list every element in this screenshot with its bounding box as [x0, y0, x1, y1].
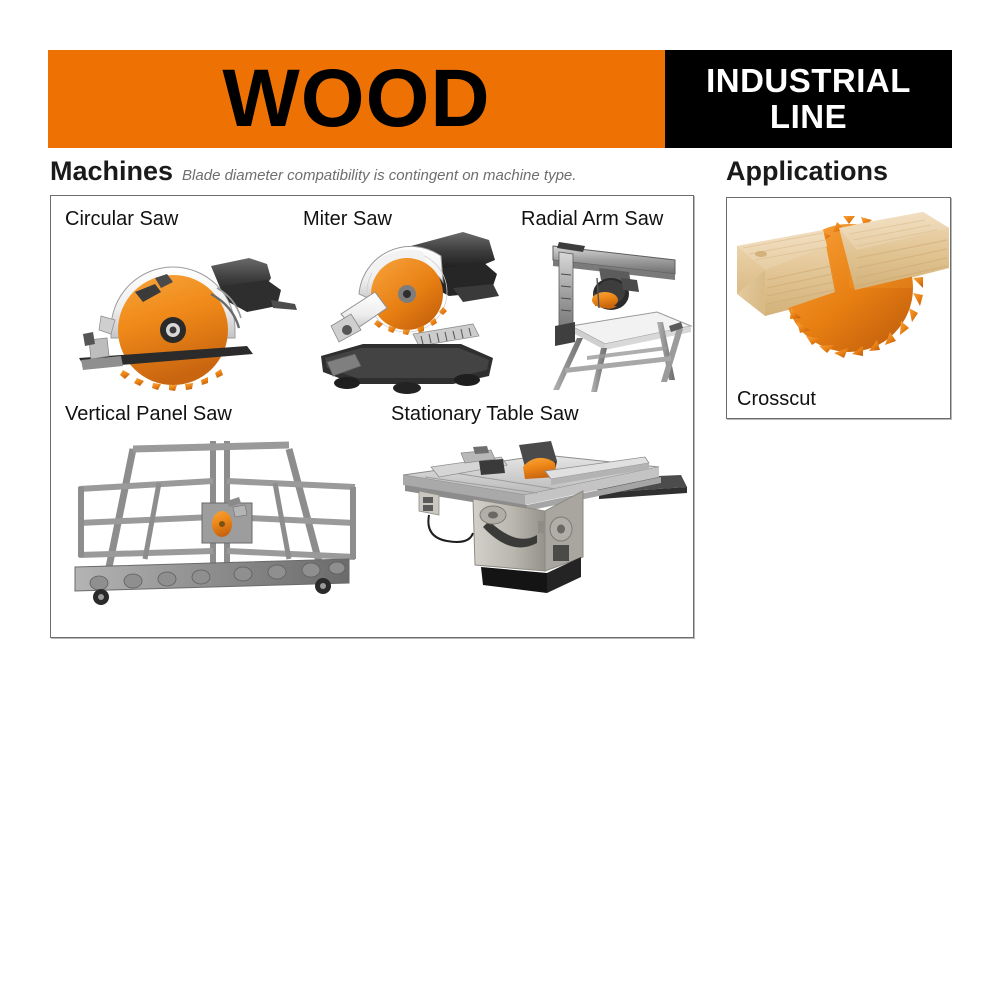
page-header: WOOD INDUSTRIAL LINE	[48, 50, 952, 148]
stationary-table-saw-illustration	[395, 429, 695, 604]
header-badge: INDUSTRIAL LINE	[665, 63, 952, 135]
page-title-text: WOOD	[222, 58, 490, 140]
saw-blade	[592, 292, 618, 309]
miter-saw-illustration	[303, 226, 508, 396]
header-badge-line-1: INDUSTRIAL	[665, 63, 952, 99]
page-title: WOOD	[48, 58, 665, 140]
machines-panel: Circular Saw	[50, 195, 694, 638]
header-badge-block: INDUSTRIAL LINE	[665, 50, 952, 148]
machine-label-radial-arm-saw: Radial Arm Saw	[521, 208, 701, 230]
vertical-panel-saw-illustration	[67, 431, 357, 606]
radial-arm-saw-illustration	[525, 230, 700, 395]
header-badge-line-2: LINE	[665, 99, 952, 135]
machine-label-stationary-table-saw: Stationary Table Saw	[391, 403, 701, 425]
applications-panel: Crosscut	[726, 197, 951, 419]
machine-cell-miter-saw: Miter Saw	[303, 208, 518, 398]
applications-heading-row: Applications	[726, 156, 966, 186]
machine-label-vertical-panel-saw: Vertical Panel Saw	[65, 403, 365, 425]
crosscut-blade-wood-illustration	[727, 198, 950, 383]
machine-label-circular-saw: Circular Saw	[65, 208, 305, 230]
machines-heading: Machines	[50, 156, 173, 186]
machines-heading-row: Machines Blade diameter compatibility is…	[50, 156, 690, 186]
machine-cell-stationary-table-saw: Stationary Table Saw	[391, 403, 701, 618]
circular-saw-illustration	[71, 234, 301, 389]
machines-note: Blade diameter compatibility is continge…	[182, 167, 576, 185]
machine-cell-circular-saw: Circular Saw	[65, 208, 305, 398]
header-title-block: WOOD	[48, 50, 665, 148]
machine-cell-radial-arm: Radial Arm Saw	[521, 208, 701, 398]
applications-heading: Applications	[726, 156, 888, 186]
machine-cell-vertical-panel-saw: Vertical Panel Saw	[65, 403, 365, 618]
application-label-crosscut: Crosscut	[737, 388, 816, 410]
